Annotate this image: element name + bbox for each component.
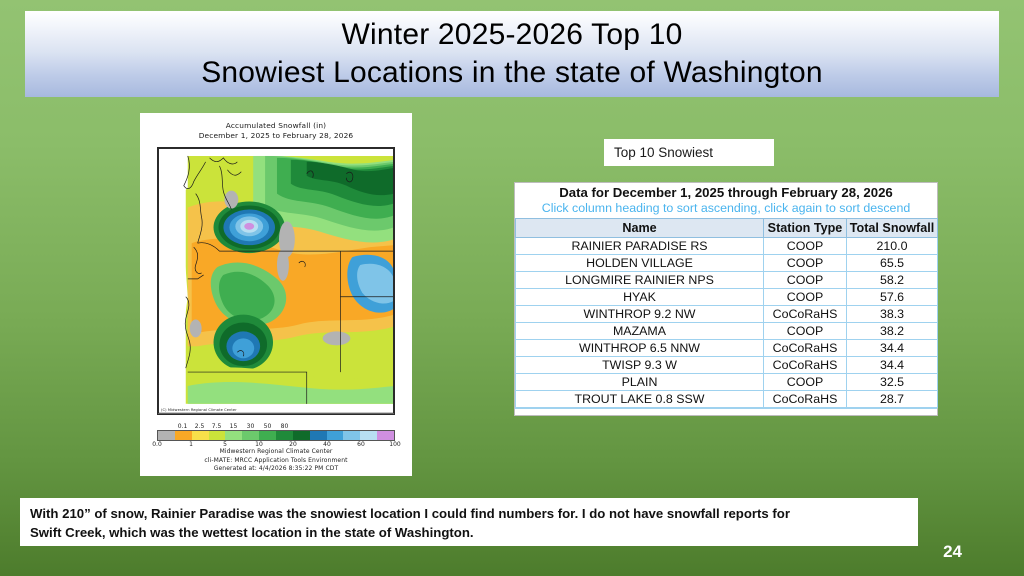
map-plot-frame: (C) Midwestern Regional Climate Center (157, 147, 395, 415)
cell-station-type: CoCoRaHS (764, 340, 847, 357)
cell-station-type: COOP (764, 238, 847, 255)
slide-title-line-1: Winter 2025-2026 Top 10 (342, 16, 683, 54)
top-10-snowiest-label-box: Top 10 Snowiest (604, 139, 774, 166)
cell-station-type: COOP (764, 323, 847, 340)
table-row: LONGMIRE RAINIER NPSCOOP58.2 (516, 272, 938, 289)
caption-line-2: Swift Creek, which was the wettest locat… (30, 523, 908, 542)
colorbar-top-tick: 7.5 (212, 423, 222, 430)
table-row: HYAKCOOP57.6 (516, 289, 938, 306)
table-header-row: Name Station Type Total Snowfall (516, 219, 938, 238)
table-row: MAZAMACOOP38.2 (516, 323, 938, 340)
cell-station-type: CoCoRaHS (764, 357, 847, 374)
colorbar-swatches (157, 430, 395, 441)
colorbar-bottom-tick: 60 (357, 441, 365, 448)
map-footer: Midwestern Regional Climate Center cli-M… (140, 448, 412, 474)
table-row: TROUT LAKE 0.8 SSWCoCoRaHS28.7 (516, 391, 938, 408)
colorbar-bottom-tick: 40 (323, 441, 331, 448)
map-title: Accumulated Snowfall (in) December 1, 20… (140, 121, 412, 140)
table-caption: Data for December 1, 2025 through Februa… (515, 183, 937, 200)
cell-total-snowfall: 38.3 (847, 306, 938, 323)
cell-station-type: COOP (764, 255, 847, 272)
slide-caption-box: With 210” of snow, Rainier Paradise was … (20, 498, 918, 546)
map-credit-overlay: (C) Midwestern Regional Climate Center (160, 408, 238, 412)
cell-station-type: CoCoRaHS (764, 391, 847, 408)
cell-station-name: RAINIER PARADISE RS (516, 238, 764, 255)
colorbar-swatch (192, 431, 209, 440)
slide-page-number: 24 (943, 542, 962, 562)
table-row: RAINIER PARADISE RSCOOP210.0 (516, 238, 938, 255)
table-sort-hint: Click column heading to sort ascending, … (515, 200, 937, 218)
cell-station-type: COOP (764, 272, 847, 289)
top-10-snowiest-label: Top 10 Snowiest (614, 145, 713, 160)
map-colorbar: 0.12.57.515305080 0.01510204060100 (157, 421, 395, 450)
table-row: HOLDEN VILLAGECOOP65.5 (516, 255, 938, 272)
colorbar-swatch (242, 431, 259, 440)
colorbar-swatch (276, 431, 293, 440)
colorbar-bottom-tick: 1 (189, 441, 193, 448)
table-row: TWISP 9.3 WCoCoRaHS34.4 (516, 357, 938, 374)
table-row: WINTHROP 6.5 NNWCoCoRaHS34.4 (516, 340, 938, 357)
map-title-line-1: Accumulated Snowfall (in) (140, 121, 412, 131)
cell-station-name: LONGMIRE RAINIER NPS (516, 272, 764, 289)
colorbar-bottom-tick: 10 (255, 441, 263, 448)
cell-station-name: HOLDEN VILLAGE (516, 255, 764, 272)
colorbar-top-tick: 80 (281, 423, 289, 430)
cell-station-name: TROUT LAKE 0.8 SSW (516, 391, 764, 408)
cell-station-name: HYAK (516, 289, 764, 306)
colorbar-top-tick: 0.1 (178, 423, 188, 430)
cell-total-snowfall: 38.2 (847, 323, 938, 340)
table-bottom-padding (515, 408, 937, 415)
snowfall-table-body: RAINIER PARADISE RSCOOP210.0HOLDEN VILLA… (516, 238, 938, 408)
slide-title-line-2: Snowiest Locations in the state of Washi… (201, 54, 823, 92)
map-footer-line-3: Generated at: 4/4/2026 8:35:22 PM CDT (140, 465, 412, 474)
cell-station-type: COOP (764, 374, 847, 391)
column-header-name[interactable]: Name (516, 219, 764, 238)
colorbar-top-tick: 15 (230, 423, 238, 430)
colorbar-top-tick: 30 (247, 423, 255, 430)
colorbar-swatch (360, 431, 377, 440)
cell-station-type: CoCoRaHS (764, 306, 847, 323)
colorbar-swatch (310, 431, 327, 440)
colorbar-swatch (209, 431, 226, 440)
colorbar-top-tick: 2.5 (195, 423, 205, 430)
cell-station-name: MAZAMA (516, 323, 764, 340)
colorbar-bottom-tick: 100 (389, 441, 400, 448)
cell-station-name: TWISP 9.3 W (516, 357, 764, 374)
slide-title-banner: Winter 2025-2026 Top 10 Snowiest Locatio… (25, 11, 999, 97)
snowfall-table: Name Station Type Total Snowfall RAINIER… (515, 218, 938, 408)
cell-station-name: PLAIN (516, 374, 764, 391)
colorbar-swatch (259, 431, 276, 440)
colorbar-bottom-tick: 5 (223, 441, 227, 448)
colorbar-swatch (158, 431, 175, 440)
cell-total-snowfall: 28.7 (847, 391, 938, 408)
snowfall-map-panel: Accumulated Snowfall (in) December 1, 20… (140, 113, 412, 476)
cell-total-snowfall: 57.6 (847, 289, 938, 306)
caption-line-1: With 210” of snow, Rainier Paradise was … (30, 504, 908, 523)
table-row: WINTHROP 9.2 NWCoCoRaHS38.3 (516, 306, 938, 323)
snowfall-contour-map (158, 148, 394, 414)
cell-station-name: WINTHROP 6.5 NNW (516, 340, 764, 357)
cell-station-name: WINTHROP 9.2 NW (516, 306, 764, 323)
colorbar-top-tick: 50 (264, 423, 272, 430)
snowfall-data-table-panel: Data for December 1, 2025 through Februa… (514, 182, 938, 416)
column-header-total-snowfall[interactable]: Total Snowfall (847, 219, 938, 238)
map-title-line-2: December 1, 2025 to February 28, 2026 (140, 131, 412, 141)
cell-total-snowfall: 34.4 (847, 340, 938, 357)
colorbar-bottom-tick: 0.0 (152, 441, 162, 448)
cell-total-snowfall: 58.2 (847, 272, 938, 289)
colorbar-swatch (225, 431, 242, 440)
column-header-station-type[interactable]: Station Type (764, 219, 847, 238)
table-row: PLAINCOOP32.5 (516, 374, 938, 391)
colorbar-swatch (175, 431, 192, 440)
cell-total-snowfall: 32.5 (847, 374, 938, 391)
map-footer-line-2: cli-MATE: MRCC Application Tools Environ… (140, 457, 412, 466)
colorbar-swatch (377, 431, 394, 440)
cell-station-type: COOP (764, 289, 847, 306)
colorbar-swatch (293, 431, 310, 440)
cell-total-snowfall: 34.4 (847, 357, 938, 374)
colorbar-bottom-tick: 20 (289, 441, 297, 448)
cell-total-snowfall: 210.0 (847, 238, 938, 255)
colorbar-swatch (343, 431, 360, 440)
map-footer-line-1: Midwestern Regional Climate Center (140, 448, 412, 457)
colorbar-top-ticks: 0.12.57.515305080 (157, 421, 395, 430)
colorbar-swatch (327, 431, 344, 440)
cell-total-snowfall: 65.5 (847, 255, 938, 272)
